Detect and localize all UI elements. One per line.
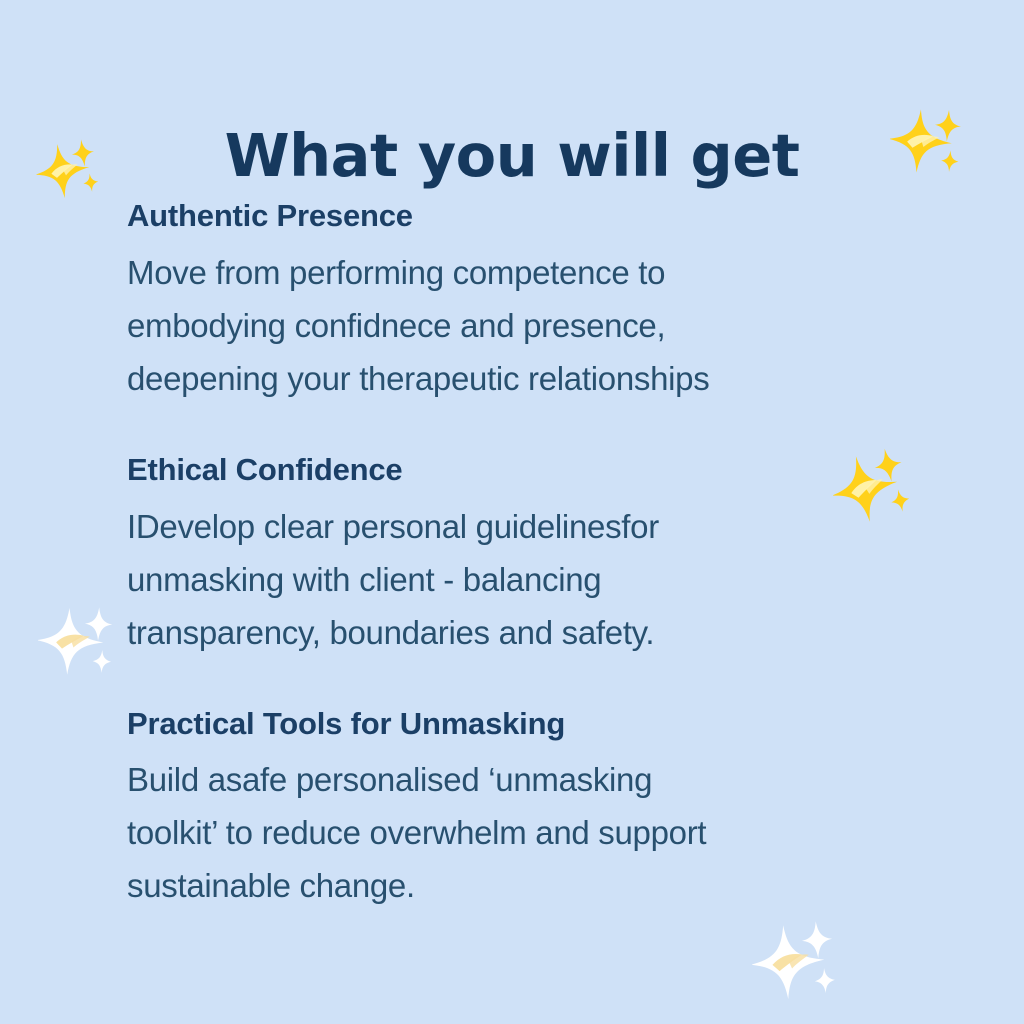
page-title: What you will get xyxy=(0,124,1024,189)
benefit-heading-1: Authentic Presence xyxy=(127,197,927,236)
benefit-body-line: deepening your therapeutic relationships xyxy=(127,352,927,405)
benefit-body-line: Move from performing competence to xyxy=(127,246,927,299)
benefit-body-line: Build asafe personalised ‘unmasking xyxy=(127,753,927,806)
benefit-body-3: Build asafe personalised ‘unmasking tool… xyxy=(127,753,927,912)
benefit-body-line: transparency, boundaries and safety. xyxy=(127,606,927,659)
benefit-body-line: IDevelop clear personal guidelinesfor xyxy=(127,500,927,553)
benefit-block-3: Practical Tools for Unmasking Build asaf… xyxy=(127,705,927,913)
benefit-body-line: sustainable change. xyxy=(127,859,927,912)
benefit-body-line: unmasking with client - balancing xyxy=(127,553,927,606)
sparkle-bottom-right-icon xyxy=(749,915,839,1005)
benefit-body-line: toolkit’ to reduce overwhelm and support xyxy=(127,806,927,859)
slide-canvas: What you will get Authentic Presence Mov… xyxy=(0,0,1024,1024)
benefit-heading-2: Ethical Confidence xyxy=(127,451,927,490)
benefit-body-2: IDevelop clear personal guidelinesfor un… xyxy=(127,500,927,659)
benefit-body-1: Move from performing competence to embod… xyxy=(127,246,927,405)
benefit-block-1: Authentic Presence Move from performing … xyxy=(127,197,927,405)
benefit-block-2: Ethical Confidence IDevelop clear person… xyxy=(127,451,927,659)
benefit-heading-3: Practical Tools for Unmasking xyxy=(127,705,927,744)
benefit-body-line: embodying confidnece and presence, xyxy=(127,299,927,352)
sparkle-middle-left-icon xyxy=(37,601,116,680)
benefits-list: Authentic Presence Move from performing … xyxy=(127,197,927,912)
